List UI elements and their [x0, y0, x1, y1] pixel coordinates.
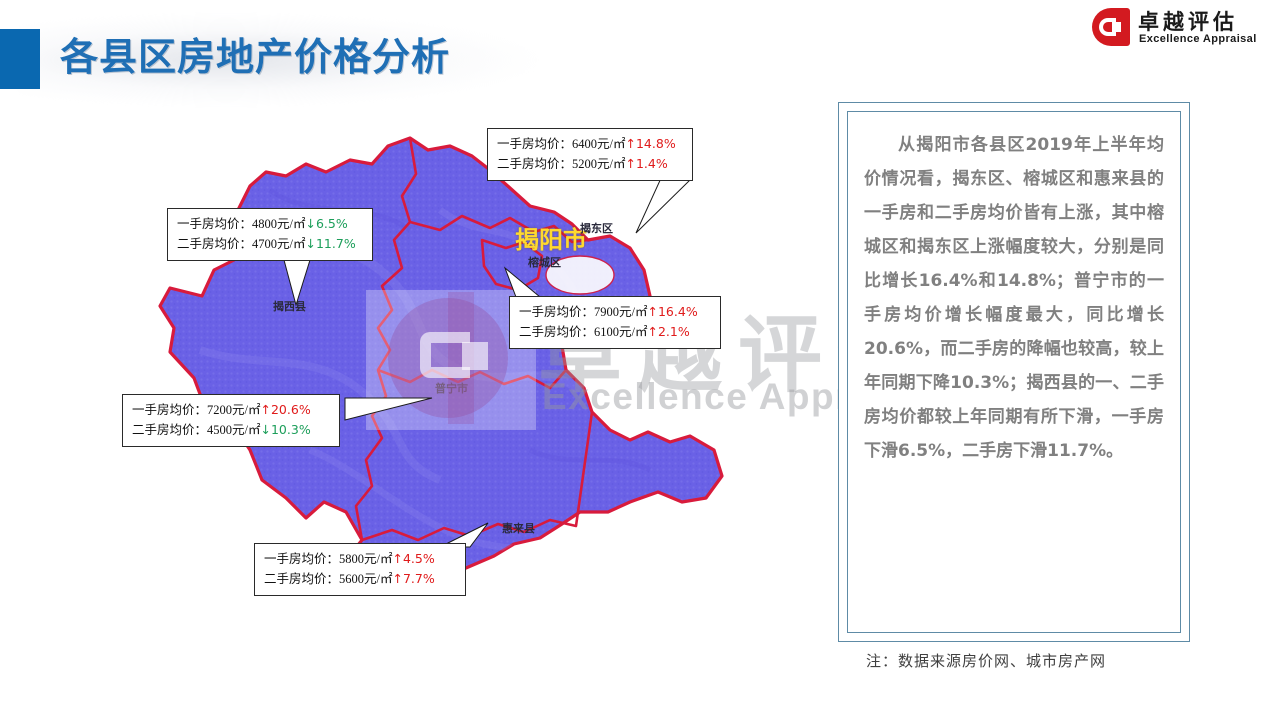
pct-second-hand: 7.7%: [403, 571, 435, 586]
pct-second-hand: 1.4%: [636, 156, 668, 171]
callout-row-first-hand: 一手房均价：7900元/㎡↑16.4%: [519, 302, 711, 322]
arrow-second-hand: ↓: [306, 236, 316, 251]
slide-root: 各县区房地产价格分析 卓越评估 Excellence Appraisal: [0, 0, 1280, 720]
callout-row-first-hand: 一手房均价：6400元/㎡↑14.8%: [497, 134, 683, 154]
label-second-hand: 二手房均价：: [264, 571, 339, 586]
pct-first-hand: 14.8%: [636, 136, 676, 151]
label-second-hand: 二手房均价：: [497, 156, 572, 171]
arrow-first-hand: ↓: [306, 216, 316, 231]
label-first-hand: 一手房均价：: [132, 402, 207, 417]
value-first-hand: 7900元/㎡: [594, 305, 647, 319]
arrow-second-hand: ↓: [261, 422, 271, 437]
label-second-hand: 二手房均价：: [177, 236, 252, 251]
arrow-first-hand: ↑: [393, 551, 403, 566]
label-first-hand: 一手房均价：: [264, 551, 339, 566]
pct-first-hand: 4.5%: [403, 551, 435, 566]
pct-first-hand: 20.6%: [271, 402, 311, 417]
label-first-hand: 一手房均价：: [177, 216, 252, 231]
pct-first-hand: 16.4%: [658, 304, 698, 319]
callout-row-first-hand: 一手房均价：7200元/㎡↑20.6%: [132, 400, 330, 420]
pct-first-hand: 6.5%: [316, 216, 348, 231]
arrow-second-hand: ↑: [648, 324, 658, 339]
callout-row-second-hand: 二手房均价：4500元/㎡↓10.3%: [132, 420, 330, 440]
arrow-first-hand: ↑: [261, 402, 271, 417]
value-second-hand: 5600元/㎡: [339, 572, 392, 586]
callout-row-first-hand: 一手房均价：5800元/㎡↑4.5%: [264, 549, 456, 569]
arrow-first-hand: ↑: [648, 304, 658, 319]
callout-jiexi[interactable]: 一手房均价：4800元/㎡↓6.5% 二手房均价：4700元/㎡↓11.7%: [167, 208, 373, 261]
callout-huilai[interactable]: 一手房均价：5800元/㎡↑4.5% 二手房均价：5600元/㎡↑7.7%: [254, 543, 466, 596]
value-first-hand: 5800元/㎡: [339, 552, 392, 566]
value-second-hand: 4700元/㎡: [252, 237, 305, 251]
value-second-hand: 6100元/㎡: [594, 325, 647, 339]
pct-second-hand: 10.3%: [271, 422, 311, 437]
arrow-second-hand: ↑: [626, 156, 636, 171]
pct-second-hand: 11.7%: [316, 236, 356, 251]
value-first-hand: 4800元/㎡: [252, 217, 305, 231]
value-second-hand: 5200元/㎡: [572, 157, 625, 171]
label-second-hand: 二手房均价：: [519, 324, 594, 339]
value-second-hand: 4500元/㎡: [207, 423, 260, 437]
callout-row-second-hand: 二手房均价：4700元/㎡↓11.7%: [177, 234, 363, 254]
value-first-hand: 7200元/㎡: [207, 403, 260, 417]
callout-row-second-hand: 二手房均价：5200元/㎡↑1.4%: [497, 154, 683, 174]
label-second-hand: 二手房均价：: [132, 422, 207, 437]
callout-row-second-hand: 二手房均价：5600元/㎡↑7.7%: [264, 569, 456, 589]
label-first-hand: 一手房均价：: [497, 136, 572, 151]
callout-row-first-hand: 一手房均价：4800元/㎡↓6.5%: [177, 214, 363, 234]
callout-leader-lines: [0, 0, 1280, 720]
callout-rongcheng[interactable]: 一手房均价：7900元/㎡↑16.4% 二手房均价：6100元/㎡↑2.1%: [509, 296, 721, 349]
arrow-second-hand: ↑: [393, 571, 403, 586]
callout-row-second-hand: 二手房均价：6100元/㎡↑2.1%: [519, 322, 711, 342]
arrow-first-hand: ↑: [626, 136, 636, 151]
value-first-hand: 6400元/㎡: [572, 137, 625, 151]
pct-second-hand: 2.1%: [658, 324, 690, 339]
callout-jiedong[interactable]: 一手房均价：6400元/㎡↑14.8% 二手房均价：5200元/㎡↑1.4%: [487, 128, 693, 181]
label-first-hand: 一手房均价：: [519, 304, 594, 319]
callout-puning[interactable]: 一手房均价：7200元/㎡↑20.6% 二手房均价：4500元/㎡↓10.3%: [122, 394, 340, 447]
